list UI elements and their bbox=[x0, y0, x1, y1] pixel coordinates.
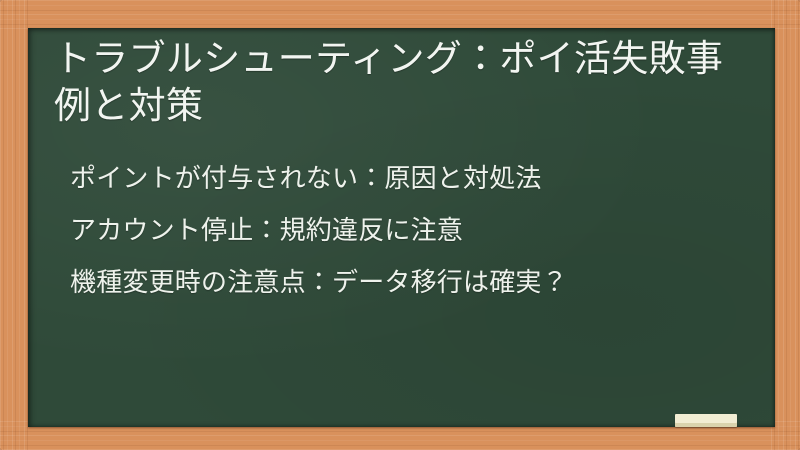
frame-rail-right bbox=[771, 0, 800, 450]
chalk-eraser-icon bbox=[675, 414, 737, 427]
chalkboard-content: トラブルシューティング：ポイ活失敗事例と対策 ポイントが付与されない：原因と対処… bbox=[28, 28, 775, 427]
frame-rail-top bbox=[0, 0, 800, 29]
list-item: ポイントが付与されない：原因と対処法 bbox=[70, 164, 749, 194]
list-item: アカウント停止：規約違反に注意 bbox=[70, 216, 749, 246]
chalkboard: トラブルシューティング：ポイ活失敗事例と対策 ポイントが付与されない：原因と対処… bbox=[28, 28, 775, 427]
frame-rail-left bbox=[0, 0, 29, 450]
chalkboard-slide: トラブルシューティング：ポイ活失敗事例と対策 ポイントが付与されない：原因と対処… bbox=[0, 0, 800, 450]
topic-list: ポイントが付与されない：原因と対処法 アカウント停止：規約違反に注意 機種変更時… bbox=[54, 164, 749, 298]
page-title: トラブルシューティング：ポイ活失敗事例と対策 bbox=[54, 36, 744, 130]
list-item: 機種変更時の注意点：データ移行は確実？ bbox=[70, 268, 749, 298]
